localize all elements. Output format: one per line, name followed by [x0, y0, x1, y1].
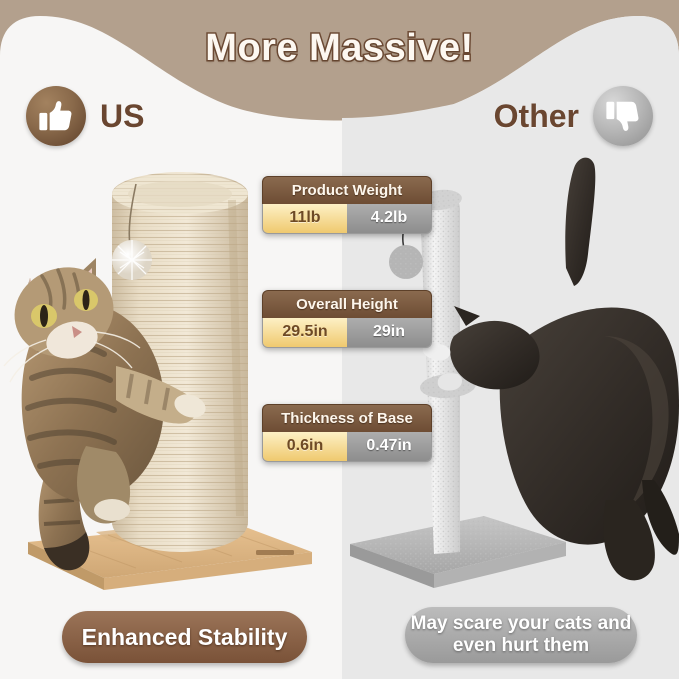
- us-value: 0.6in: [263, 432, 347, 461]
- comparison-card: Overall Height 29.5in 29in: [262, 290, 432, 348]
- other-value: 29in: [347, 318, 431, 347]
- value-row: 0.6in 0.47in: [262, 432, 432, 462]
- comparison-cards: Product Weight 11lb 4.2lb Overall Height…: [262, 176, 432, 462]
- page-title: More Massive!: [0, 27, 679, 70]
- value-row: 11lb 4.2lb: [262, 204, 432, 234]
- us-value: 29.5in: [263, 318, 347, 347]
- attribute-label: Overall Height: [262, 290, 432, 318]
- other-header: Other: [494, 86, 653, 146]
- other-caption-pill: May scare your cats and even hurt them: [405, 607, 637, 663]
- us-label: US: [100, 98, 144, 135]
- dark-cat: [423, 158, 679, 581]
- comparison-infographic: More Massive! US Other Product Weight 11…: [0, 0, 679, 679]
- value-row: 29.5in 29in: [262, 318, 432, 348]
- thumbs-down-icon: [593, 86, 653, 146]
- comparison-card: Product Weight 11lb 4.2lb: [262, 176, 432, 234]
- us-value: 11lb: [263, 204, 347, 233]
- attribute-label: Thickness of Base: [262, 404, 432, 432]
- other-label: Other: [494, 98, 579, 135]
- thumbs-up-icon: [26, 86, 86, 146]
- us-caption-pill: Enhanced Stability: [62, 611, 307, 663]
- other-value: 0.47in: [347, 432, 431, 461]
- other-value: 4.2lb: [347, 204, 431, 233]
- us-header: US: [26, 86, 144, 146]
- comparison-card: Thickness of Base 0.6in 0.47in: [262, 404, 432, 462]
- attribute-label: Product Weight: [262, 176, 432, 204]
- base-logo-mark: [256, 550, 294, 555]
